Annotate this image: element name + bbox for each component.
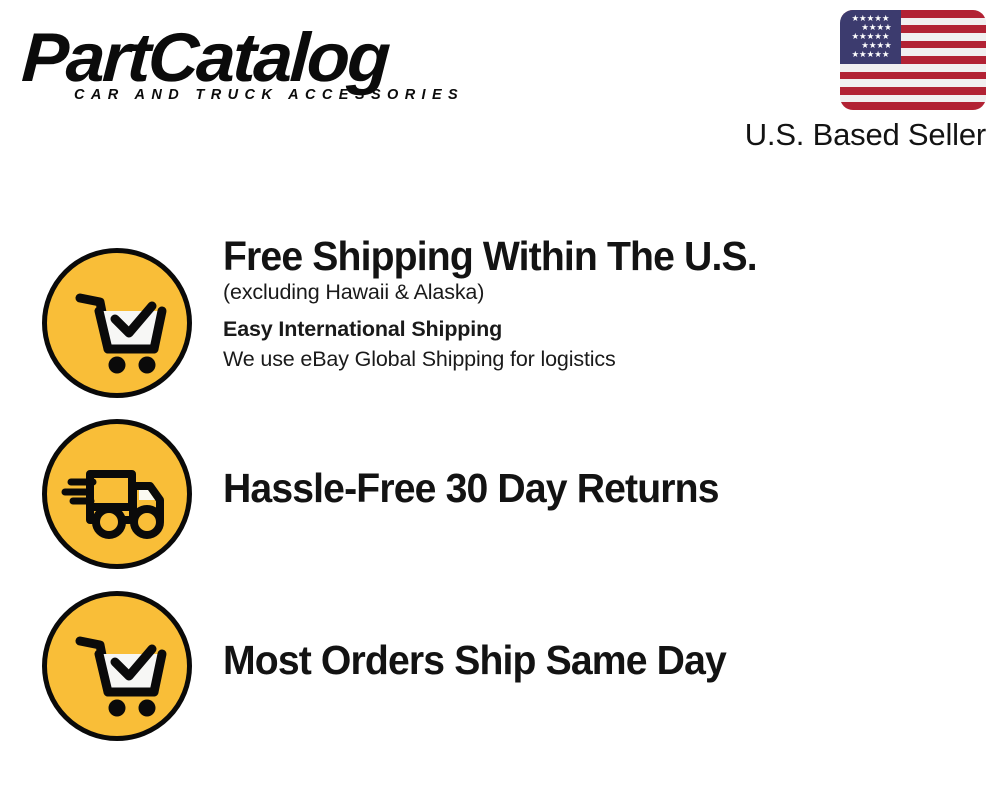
shopping-cart-check-icon bbox=[47, 253, 197, 403]
icon-circle bbox=[42, 248, 192, 398]
feature-headline: Free Shipping Within The U.S. bbox=[223, 235, 930, 278]
icon-circle bbox=[42, 419, 192, 569]
feature-text-block: Free Shipping Within The U.S. (excluding… bbox=[223, 235, 963, 374]
delivery-truck-icon bbox=[47, 424, 197, 574]
feature-icon-same-day bbox=[42, 591, 192, 741]
feature-subline-exclusion: (excluding Hawaii & Alaska) bbox=[223, 278, 963, 307]
shopping-cart-check-icon bbox=[47, 596, 197, 746]
feature-headline: Hassle-Free 30 Day Returns bbox=[223, 467, 930, 510]
feature-icon-free-shipping bbox=[42, 248, 192, 398]
feature-headline: Most Orders Ship Same Day bbox=[223, 639, 930, 682]
feature-icon-returns bbox=[42, 419, 192, 569]
icon-circle bbox=[42, 591, 192, 741]
feature-list: Free Shipping Within The U.S. (excluding… bbox=[0, 0, 1000, 800]
feature-subline-international-detail: We use eBay Global Shipping for logistic… bbox=[223, 345, 963, 374]
feature-subline-international-title: Easy International Shipping bbox=[223, 315, 963, 344]
feature-text-block: Most Orders Ship Same Day bbox=[223, 639, 963, 682]
feature-text-block: Hassle-Free 30 Day Returns bbox=[223, 467, 963, 510]
